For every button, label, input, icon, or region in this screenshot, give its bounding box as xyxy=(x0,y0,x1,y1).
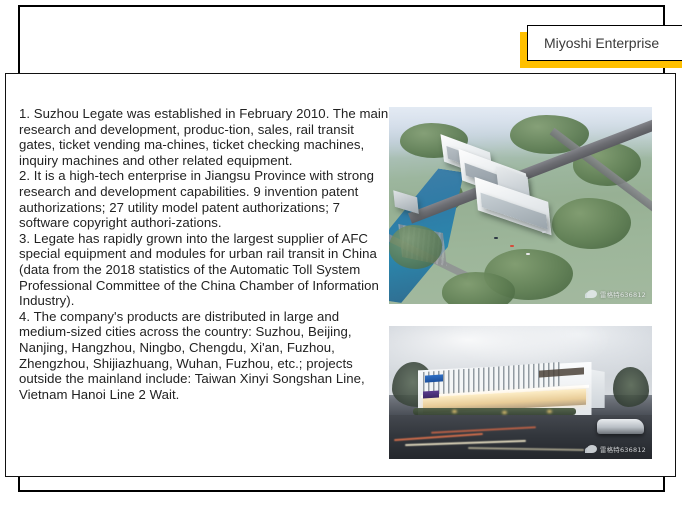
page-title: Miyoshi Enterprise xyxy=(544,36,659,50)
street-light-glow xyxy=(547,410,552,413)
content-panel: 1. Suzhou Legate was established in Febr… xyxy=(5,73,676,477)
watermark-logo-icon xyxy=(587,445,597,453)
campus-aerial-image: 雷格特636812 xyxy=(389,107,652,304)
street-scene: 雷格特636812 xyxy=(389,326,652,459)
aerial-scene: 雷格特636812 xyxy=(389,107,652,304)
watermark-text: 雷格特636812 xyxy=(600,289,646,299)
title-box: Miyoshi Enterprise xyxy=(527,25,682,61)
car xyxy=(597,419,644,434)
image-watermark: 雷格特636812 xyxy=(587,444,646,454)
tree-cluster xyxy=(552,198,631,249)
car xyxy=(494,237,498,239)
car xyxy=(510,245,514,247)
car xyxy=(526,253,530,255)
company-description-text: 1. Suzhou Legate was established in Febr… xyxy=(19,106,391,402)
campus-annex-building xyxy=(393,190,418,213)
street-light-glow xyxy=(452,410,457,413)
image-watermark: 雷格特636812 xyxy=(587,289,646,299)
car xyxy=(542,231,546,233)
watermark-logo-icon xyxy=(587,290,597,298)
building-facade-image: 雷格特636812 xyxy=(389,326,652,459)
tree-cluster xyxy=(442,272,516,304)
watermark-text: 雷格特636812 xyxy=(600,444,646,454)
purple-signage xyxy=(423,391,439,399)
tree-cluster xyxy=(389,225,442,268)
